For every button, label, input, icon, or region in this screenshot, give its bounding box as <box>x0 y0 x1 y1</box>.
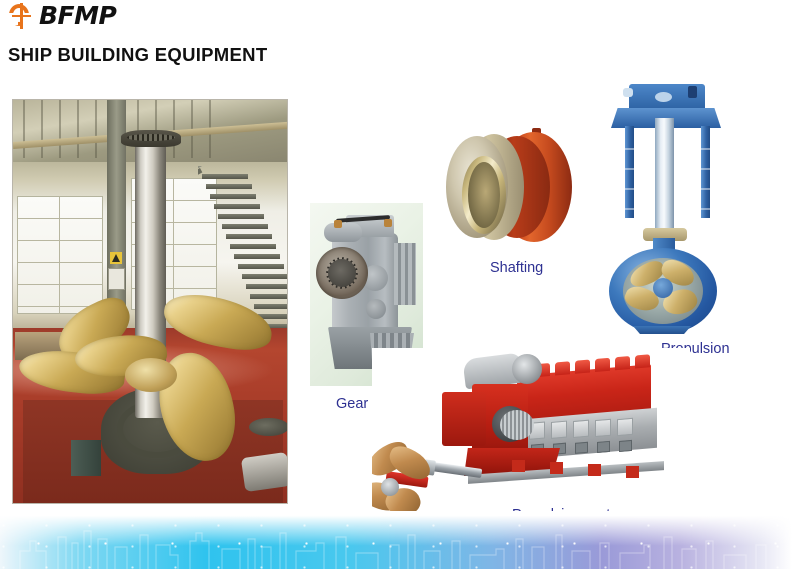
figure-propulsion-system-image <box>372 348 690 518</box>
figure-shafting-caption: Shafting <box>490 260 543 276</box>
brand-logo-text: BFMP <box>39 3 116 29</box>
figure-complete-set-image <box>12 99 288 504</box>
figure-shafting-image <box>440 128 580 254</box>
slide-canvas: BFMP SHIP BUILDING EQUIPMENT <box>0 0 792 569</box>
footer-decor-band <box>0 511 792 569</box>
page-title: SHIP BUILDING EQUIPMENT <box>8 44 267 66</box>
footer-sparkle-dots <box>0 521 792 569</box>
figure-propulsion-image <box>603 82 758 334</box>
brand-logo[interactable]: BFMP <box>8 2 116 30</box>
bfmp-logo-icon <box>8 3 35 29</box>
